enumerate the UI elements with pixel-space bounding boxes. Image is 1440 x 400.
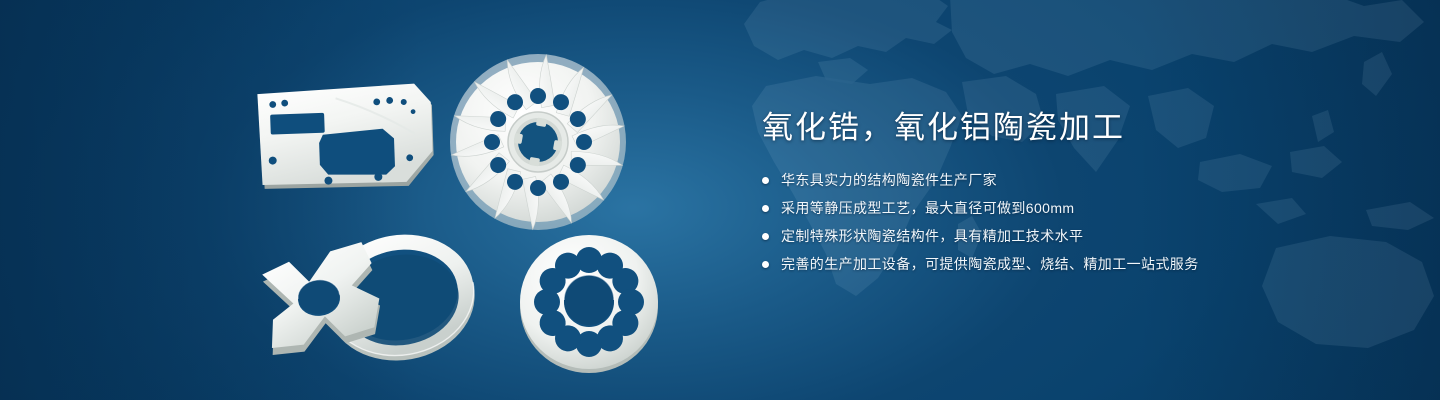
bullet-dot-icon — [762, 205, 769, 212]
feature-text: 完善的生产加工设备，可提供陶瓷成型、烧结、精加工一站式服务 — [781, 254, 1199, 274]
feature-text: 定制特殊形状陶瓷结构件，具有精加工技术水平 — [781, 226, 1083, 246]
product-image-group — [235, 42, 685, 382]
feature-item: 采用等静压成型工艺，最大直径可做到600mm — [762, 198, 1362, 218]
product-ceramic-cross-plate-and-ring — [249, 224, 501, 372]
banner-copy: 氧化锆，氧化铝陶瓷加工 华东具实力的结构陶瓷件生产厂家 采用等静压成型工艺，最大… — [762, 108, 1362, 282]
promo-banner: 氧化锆，氧化铝陶瓷加工 华东具实力的结构陶瓷件生产厂家 采用等静压成型工艺，最大… — [0, 0, 1440, 400]
feature-text: 采用等静压成型工艺，最大直径可做到600mm — [781, 198, 1074, 218]
product-ceramic-impeller — [443, 50, 633, 235]
banner-headline: 氧化锆，氧化铝陶瓷加工 — [762, 108, 1362, 148]
feature-list: 华东具实力的结构陶瓷件生产厂家 采用等静压成型工艺，最大直径可做到600mm 定… — [762, 170, 1362, 274]
bullet-dot-icon — [762, 233, 769, 240]
feature-item: 完善的生产加工设备，可提供陶瓷成型、烧结、精加工一站式服务 — [762, 254, 1362, 274]
feature-item: 定制特殊形状陶瓷结构件，具有精加工技术水平 — [762, 226, 1362, 246]
feature-text: 华东具实力的结构陶瓷件生产厂家 — [781, 170, 997, 190]
bullet-dot-icon — [762, 261, 769, 268]
feature-item: 华东具实力的结构陶瓷件生产厂家 — [762, 170, 1362, 190]
product-ceramic-perforated-disc — [515, 228, 663, 376]
bullet-dot-icon — [762, 177, 769, 184]
product-ceramic-machined-plate — [255, 83, 437, 195]
